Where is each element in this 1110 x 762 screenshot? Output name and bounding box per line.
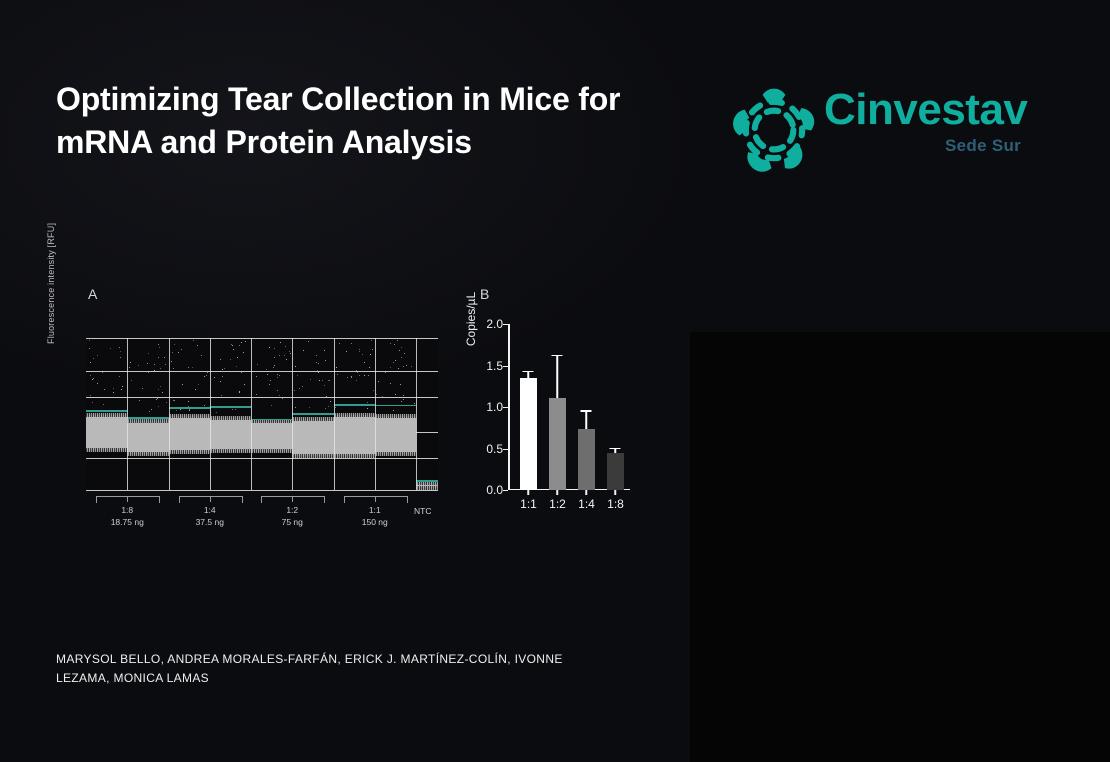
ddpcr-droplet — [393, 410, 394, 411]
ddpcr-droplet — [230, 359, 231, 360]
error-bar-cap — [610, 448, 621, 450]
dilution-bracket-tick — [127, 496, 128, 502]
ddpcr-well-ntc — [416, 338, 438, 490]
ddpcr-droplet — [403, 395, 404, 396]
ddpcr-droplet — [158, 344, 159, 345]
ddpcr-droplet-cloud — [251, 421, 292, 451]
ddpcr-droplet — [113, 388, 114, 389]
ddpcr-droplet — [121, 389, 122, 390]
error-bar — [557, 356, 559, 398]
ddpcr-droplet — [371, 340, 372, 341]
ddpcr-droplet — [201, 355, 202, 356]
ddpcr-droplet — [232, 345, 233, 346]
ddpcr-droplet — [328, 380, 329, 381]
panel-b-ylabel: Copies/µL — [464, 264, 478, 374]
ddpcr-droplet — [244, 384, 245, 385]
ddpcr-droplet — [139, 400, 140, 401]
ddpcr-well-separator — [127, 338, 128, 490]
white-mouse-photo — [690, 332, 1110, 762]
ddpcr-well — [86, 338, 127, 490]
ddpcr-droplet — [221, 395, 222, 396]
ddpcr-cloud-edge — [169, 414, 210, 418]
ddpcr-droplet — [147, 363, 148, 364]
ddpcr-droplet — [256, 394, 257, 395]
dilution-bracket-tick — [375, 496, 376, 502]
ddpcr-droplet — [158, 357, 159, 358]
ddpcr-droplet — [172, 352, 173, 353]
ddpcr-droplet — [369, 367, 370, 368]
ddpcr-droplet — [195, 389, 196, 390]
ddpcr-droplet — [336, 367, 337, 368]
dilution-bracket — [96, 496, 160, 503]
ddpcr-droplet — [378, 381, 379, 382]
ddpcr-droplet — [284, 355, 285, 356]
logo-wordmark: Cinvestav — [824, 88, 1027, 132]
ddpcr-well-separator — [292, 338, 293, 490]
ddpcr-threshold-line — [375, 405, 416, 407]
panel-a-letter: A — [88, 286, 97, 302]
presentation-slide: Optimizing Tear Collection in Mice for m… — [0, 0, 1110, 762]
ddpcr-droplet — [372, 349, 373, 350]
ddpcr-droplet — [303, 350, 304, 351]
results-figure: A B Fluorescence intensity [RFU] 1:818.7… — [48, 286, 668, 556]
ddpcr-threshold-line — [86, 410, 127, 412]
ddpcr-droplet — [182, 384, 183, 385]
ddpcr-droplet — [364, 362, 365, 363]
error-bar-cap — [581, 410, 592, 412]
ddpcr-cloud-edge — [251, 449, 292, 453]
y-tick-mark — [503, 490, 508, 491]
ddpcr-well — [210, 338, 251, 490]
ddpcr-well — [169, 338, 210, 490]
ddpcr-droplet — [113, 392, 114, 393]
panel-a-ylabel: Fluorescence intensity [RFU] — [46, 194, 56, 344]
ddpcr-droplet — [157, 398, 158, 399]
ddpcr-threshold-line — [292, 413, 333, 415]
ddpcr-droplet — [357, 372, 358, 373]
ddpcr-droplet — [394, 344, 395, 345]
ddpcr-gridline — [86, 490, 438, 491]
ddpcr-droplet — [411, 366, 412, 367]
x-tick-mark — [586, 490, 588, 495]
ddpcr-droplet — [158, 406, 159, 407]
ddpcr-droplet — [324, 385, 325, 386]
ddpcr-well-separator — [251, 338, 252, 490]
ddpcr-droplet — [89, 340, 90, 341]
ddpcr-droplet — [90, 395, 91, 396]
ddpcr-cloud-edge — [86, 413, 127, 417]
ddpcr-droplet — [257, 364, 258, 365]
ddpcr-threshold-line — [169, 407, 210, 409]
ddpcr-droplet — [239, 345, 240, 346]
ddpcr-droplet — [239, 391, 240, 392]
x-tick-mark — [557, 490, 559, 495]
ddpcr-droplet — [269, 384, 270, 385]
ddpcr-droplet — [164, 357, 165, 358]
ddpcr-droplet — [279, 355, 280, 356]
ddpcr-droplet — [329, 380, 330, 381]
dilution-label: 1:1150 ng — [326, 504, 424, 529]
ddpcr-well-separator — [334, 338, 335, 490]
ddpcr-droplet — [189, 410, 190, 411]
ddpcr-droplet — [174, 344, 175, 345]
ddpcr-droplet — [173, 368, 174, 369]
ddpcr-droplet — [328, 406, 329, 407]
ddpcr-droplet — [385, 372, 386, 373]
ddpcr-droplet — [122, 386, 123, 387]
ddpcr-droplet — [376, 394, 377, 395]
ddpcr-droplet — [93, 378, 94, 379]
ddpcr-droplet — [192, 367, 193, 368]
ddpcr-well — [334, 338, 375, 490]
ddpcr-droplet — [266, 369, 267, 370]
ddpcr-cloud-edge — [334, 413, 375, 417]
ddpcr-droplet — [92, 379, 93, 380]
bar-group: 1:8 — [607, 324, 623, 490]
error-bar-cap — [523, 371, 534, 373]
ddpcr-droplet — [103, 404, 104, 405]
ddpcr-droplet — [400, 384, 401, 385]
ddpcr-droplet — [322, 380, 323, 381]
ddpcr-droplet — [359, 351, 360, 352]
ddpcr-droplet — [395, 394, 396, 395]
ddpcr-droplet — [285, 346, 286, 347]
ddpcr-cloud-edge — [169, 450, 210, 454]
ddpcr-droplet — [273, 367, 274, 368]
ddpcr-threshold-line — [127, 417, 168, 419]
ddpcr-droplet — [299, 388, 300, 389]
ddpcr-droplet — [119, 347, 120, 348]
ddpcr-droplet — [290, 353, 291, 354]
ddpcr-droplet — [188, 367, 189, 368]
ddpcr-droplet — [373, 390, 374, 391]
x-tick-mark — [615, 490, 617, 495]
bar — [520, 378, 536, 490]
ddpcr-droplet — [351, 377, 352, 378]
ddpcr-droplet — [159, 347, 160, 348]
ddpcr-droplet — [356, 380, 357, 381]
ddpcr-droplet — [232, 409, 233, 410]
ddpcr-droplet — [102, 372, 103, 373]
ddpcr-cloud-edge — [375, 414, 416, 418]
ddpcr-droplet — [129, 367, 130, 368]
ddpcr-droplet — [173, 400, 174, 401]
ddpcr-droplet — [326, 396, 327, 397]
ddpcr-droplet — [241, 372, 242, 373]
ddpcr-droplet — [324, 350, 325, 351]
ddpcr-threshold-line — [210, 406, 251, 408]
dilution-mass: 18.75 ng — [111, 517, 144, 527]
ddpcr-droplet — [316, 355, 317, 356]
ddpcr-droplet — [367, 408, 368, 409]
ddpcr-well — [127, 338, 168, 490]
ddpcr-droplet — [297, 375, 298, 376]
ddpcr-cloud-edge — [375, 452, 416, 456]
ddpcr-droplet — [339, 343, 340, 344]
ddpcr-droplet — [347, 377, 348, 378]
ddpcr-well-separator — [416, 338, 417, 490]
ddpcr-droplet — [401, 401, 402, 402]
ddpcr-droplet — [110, 348, 111, 349]
panel-a-ddpcr-plot: Fluorescence intensity [RFU] 1:818.75 ng… — [48, 338, 460, 553]
bar-group: 1:4 — [578, 324, 594, 490]
ddpcr-droplet — [237, 357, 238, 358]
ddpcr-droplet — [204, 405, 205, 406]
ddpcr-droplet — [90, 362, 91, 363]
ddpcr-droplet — [325, 408, 326, 409]
ddpcr-droplet — [198, 384, 199, 385]
ddpcr-droplet — [239, 392, 240, 393]
dilution-bracket — [261, 496, 325, 503]
ddpcr-droplet — [282, 398, 283, 399]
ddpcr-cloud-edge — [416, 486, 438, 490]
ddpcr-droplet — [245, 341, 246, 342]
ddpcr-droplet — [294, 390, 295, 391]
ddpcr-droplet — [359, 375, 360, 376]
panel-b-bar-chart: Copies/µL 0.00.51.01.52.01:11:21:41:8 — [460, 316, 660, 546]
ddpcr-droplet — [382, 396, 383, 397]
ntc-label: NTC — [414, 506, 431, 516]
ddpcr-droplet — [414, 403, 415, 404]
ddpcr-droplet — [206, 375, 207, 376]
x-tick-label: 1:2 — [549, 497, 566, 511]
ddpcr-cloud-edge — [334, 454, 375, 458]
ddpcr-droplet — [401, 357, 402, 358]
ddpcr-droplet — [124, 397, 125, 398]
error-bar-cap — [552, 355, 563, 357]
ddpcr-droplet — [390, 343, 391, 344]
y-tick-mark — [503, 366, 508, 367]
ddpcr-cloud-edge — [86, 448, 127, 452]
y-axis — [508, 324, 510, 490]
ddpcr-droplet — [286, 359, 287, 360]
dilution-ratio: 1:4 — [204, 505, 216, 515]
bar — [578, 429, 594, 490]
ddpcr-droplet — [220, 359, 221, 360]
ddpcr-droplet — [130, 362, 131, 363]
dilution-mass: 75 ng — [282, 517, 303, 527]
ddpcr-cloud-edge — [292, 417, 333, 421]
ddpcr-droplet — [362, 354, 363, 355]
dilution-bracket — [344, 496, 408, 503]
x-tick-mark — [528, 490, 530, 495]
ddpcr-droplet — [188, 401, 189, 402]
ddpcr-droplet — [138, 365, 139, 366]
ddpcr-plot-area — [86, 338, 438, 490]
ddpcr-droplet — [178, 352, 179, 353]
ddpcr-droplet — [302, 386, 303, 387]
ddpcr-cloud-edge — [416, 481, 438, 485]
dilution-mass: 37.5 ng — [196, 517, 224, 527]
ddpcr-droplet — [151, 409, 152, 410]
ddpcr-well — [251, 338, 292, 490]
ddpcr-droplet — [403, 366, 404, 367]
ddpcr-droplet — [216, 412, 217, 413]
ddpcr-droplet — [149, 411, 150, 412]
ddpcr-droplet — [158, 389, 159, 390]
ddpcr-droplet-cloud — [375, 416, 416, 453]
ddpcr-droplet — [148, 372, 149, 373]
ddpcr-droplet — [330, 401, 331, 402]
ddpcr-droplet — [119, 376, 120, 377]
cinvestav-logo: Cinvestav Sede Sur — [730, 84, 1040, 176]
ddpcr-droplet — [97, 383, 98, 384]
ddpcr-cloud-edge — [292, 454, 333, 458]
ddpcr-droplet — [368, 375, 369, 376]
ddpcr-droplet — [401, 347, 402, 348]
ddpcr-droplet — [325, 360, 326, 361]
ddpcr-droplet-cloud — [210, 418, 251, 451]
ddpcr-droplet — [120, 351, 121, 352]
author-list: MARYSOL BELLO, ANDREA MORALES-FARFÁN, ER… — [56, 650, 576, 688]
ddpcr-droplet — [207, 372, 208, 373]
ddpcr-droplet — [397, 340, 398, 341]
ddpcr-droplet — [277, 377, 278, 378]
ddpcr-droplet — [243, 352, 244, 353]
ddpcr-cloud-edge — [210, 416, 251, 420]
ddpcr-droplet — [92, 402, 93, 403]
ddpcr-droplet — [390, 367, 391, 368]
ddpcr-droplet — [233, 349, 234, 350]
ddpcr-droplet — [359, 349, 360, 350]
y-tick-mark — [503, 449, 508, 450]
ddpcr-droplet — [274, 365, 275, 366]
dilution-bracket-tick — [292, 496, 293, 502]
ddpcr-droplet-cloud — [169, 416, 210, 452]
ddpcr-droplet — [160, 368, 161, 369]
y-tick-label: 1.0 — [486, 400, 503, 414]
ddpcr-droplet — [241, 342, 242, 343]
ddpcr-droplet — [280, 342, 281, 343]
ddpcr-droplet — [236, 366, 237, 367]
ddpcr-cloud-edge — [127, 452, 168, 456]
cinvestav-logo-mark — [730, 86, 818, 174]
ddpcr-well-separator — [375, 338, 376, 490]
ddpcr-droplet — [398, 368, 399, 369]
ddpcr-threshold-line — [251, 419, 292, 421]
ddpcr-well-separator — [210, 338, 211, 490]
ddpcr-droplet — [162, 392, 163, 393]
ddpcr-droplet — [274, 348, 275, 349]
x-tick-label: 1:1 — [520, 497, 537, 511]
y-tick-mark — [503, 407, 508, 408]
ddpcr-threshold-line — [334, 404, 375, 406]
y-tick-label: 2.0 — [486, 317, 503, 331]
ddpcr-droplet — [270, 380, 271, 381]
ddpcr-droplet — [295, 366, 296, 367]
bar — [607, 453, 623, 490]
ddpcr-droplet — [89, 348, 90, 349]
ddpcr-droplet — [279, 395, 280, 396]
ddpcr-droplet — [160, 386, 161, 387]
ddpcr-droplet-cloud — [334, 415, 375, 456]
y-tick-label: 0.5 — [486, 442, 503, 456]
ddpcr-well — [292, 338, 333, 490]
ddpcr-droplet — [142, 388, 143, 389]
ddpcr-droplet-cloud — [127, 421, 168, 454]
ddpcr-droplet-cloud — [292, 419, 333, 456]
error-bar — [528, 372, 530, 378]
ddpcr-droplet — [88, 371, 89, 372]
panel-b-letter: B — [480, 286, 489, 302]
ddpcr-droplet — [180, 409, 181, 410]
ddpcr-droplet — [310, 379, 311, 380]
dilution-ratio: 1:8 — [121, 505, 133, 515]
ddpcr-droplet — [399, 350, 400, 351]
bar-group: 1:2 — [549, 324, 565, 490]
ddpcr-cloud-edge — [210, 449, 251, 453]
ddpcr-threshold-line — [416, 480, 438, 482]
bar-plot-area: 0.00.51.01.52.01:11:21:41:8 — [508, 324, 630, 490]
ddpcr-droplet — [351, 343, 352, 344]
ddpcr-droplet — [390, 383, 391, 384]
ddpcr-droplet — [346, 351, 347, 352]
ddpcr-droplet — [165, 364, 166, 365]
ddpcr-droplet — [224, 368, 225, 369]
dilution-mass: 150 ng — [362, 517, 388, 527]
ddpcr-droplet — [197, 345, 198, 346]
ddpcr-droplet — [93, 358, 94, 359]
ddpcr-droplet — [308, 341, 309, 342]
ddpcr-cloud-edge — [127, 419, 168, 423]
ddpcr-droplet — [148, 353, 149, 354]
ddpcr-droplet — [289, 351, 290, 352]
ddpcr-droplet — [364, 375, 365, 376]
ddpcr-droplet — [90, 375, 91, 376]
y-tick-label: 1.5 — [486, 359, 503, 373]
y-tick-label: 0.0 — [486, 483, 503, 497]
ddpcr-droplet — [316, 362, 317, 363]
ddpcr-well-separator — [169, 338, 170, 490]
error-bar — [615, 449, 617, 452]
ddpcr-droplet — [335, 407, 336, 408]
ddpcr-droplet — [104, 389, 105, 390]
ddpcr-droplet — [171, 361, 172, 362]
ddpcr-droplet — [406, 365, 407, 366]
ddpcr-droplet — [395, 360, 396, 361]
logo-subtitle: Sede Sur — [945, 136, 1021, 156]
ddpcr-droplet — [131, 380, 132, 381]
ddpcr-droplet — [154, 364, 155, 365]
ddpcr-droplet — [181, 349, 182, 350]
ddpcr-droplet — [393, 362, 394, 363]
ddpcr-droplet — [404, 353, 405, 354]
bar-group: 1:1 — [520, 324, 536, 490]
ddpcr-droplet — [318, 363, 319, 364]
bar — [549, 398, 565, 490]
ddpcr-droplet — [318, 372, 319, 373]
y-tick-mark — [503, 324, 508, 325]
ddpcr-droplet — [220, 381, 221, 382]
ddpcr-droplet — [222, 369, 223, 370]
ddpcr-droplet-cloud — [86, 415, 127, 450]
ddpcr-droplet — [271, 405, 272, 406]
ddpcr-droplet — [120, 357, 121, 358]
panel-a-axis-labels: 1:818.75 ng1:437.5 ng1:275 ng1:1150 ngNT… — [86, 494, 438, 540]
ddpcr-droplet — [370, 354, 371, 355]
ddpcr-droplet — [279, 375, 280, 376]
error-bar — [586, 412, 588, 429]
ddpcr-droplet — [193, 340, 194, 341]
ddpcr-droplet — [222, 376, 223, 377]
ddpcr-droplet — [204, 376, 205, 377]
x-tick-label: 1:8 — [607, 497, 624, 511]
ddpcr-droplet — [97, 355, 98, 356]
ddpcr-droplet — [337, 374, 338, 375]
ddpcr-droplet — [295, 407, 296, 408]
ddpcr-well — [375, 338, 416, 490]
ddpcr-droplet — [176, 410, 177, 411]
